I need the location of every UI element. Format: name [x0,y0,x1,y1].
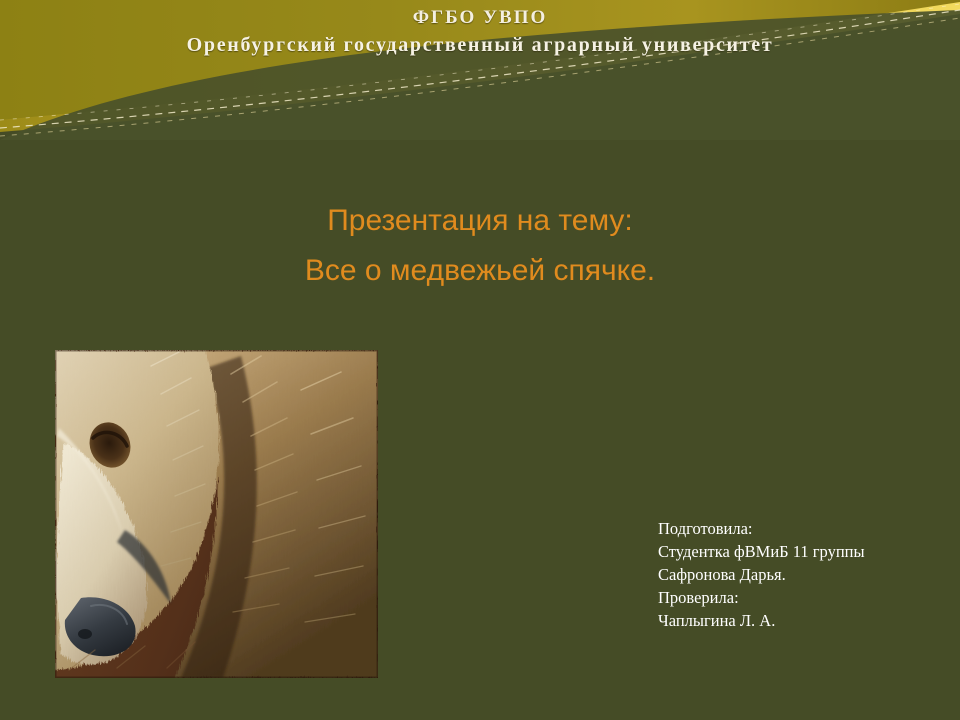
author-line-reviewer-name: Чаплыгина Л. А. [658,609,948,632]
sleeping-bear-photo [55,350,378,678]
author-line-student-name: Сафронова Дарья. [658,563,948,586]
author-credits: Подготовила: Студентка фВМиБ 11 группы С… [658,517,948,632]
author-line-student-group: Студентка фВМиБ 11 группы [658,540,948,563]
slide-title: Презентация на тему: Все о медвежьей спя… [230,196,730,296]
author-line-checked-by: Проверила: [658,586,948,609]
presentation-slide: ФГБО УВПО Оренбургский государственный а… [0,0,960,720]
decorative-banner [0,0,960,140]
bear-illustration [55,350,378,678]
title-line-2: Все о медвежьей спячке. [230,246,730,296]
title-line-1: Презентация на тему: [230,196,730,246]
author-line-prepared-by: Подготовила: [658,517,948,540]
banner-graphic [0,0,960,140]
